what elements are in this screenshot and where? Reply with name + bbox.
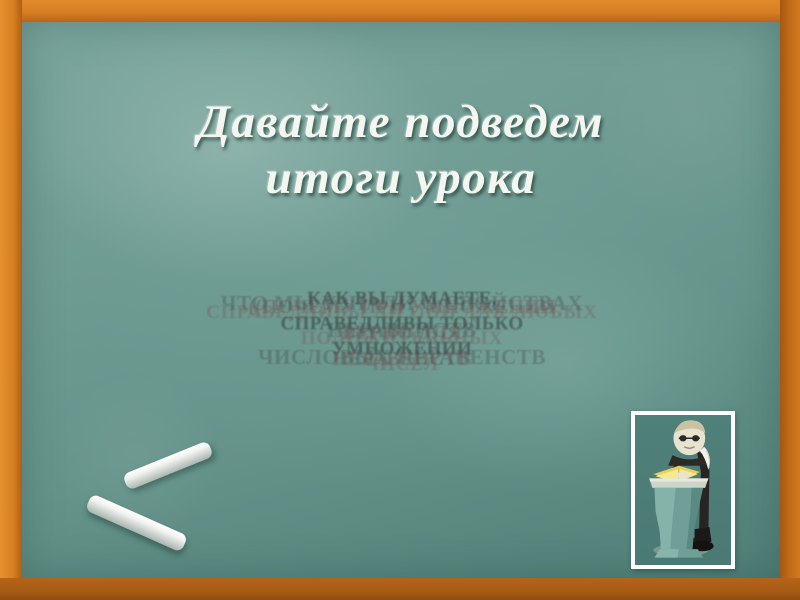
chalkboard: Давайте подведем итоги урока Как вы дума… bbox=[22, 22, 780, 578]
lecturer-image bbox=[635, 415, 731, 565]
chalk-stick-lower bbox=[85, 493, 188, 552]
presentation-slide: Давайте подведем итоги урока Как вы дума… bbox=[0, 0, 800, 600]
lecturer-image-card bbox=[631, 411, 735, 569]
transition-text-layer-4: Справедливы ли они для любых положительн… bbox=[44, 300, 760, 378]
lecturer-at-podium-icon bbox=[635, 415, 731, 565]
frame-border-top bbox=[0, 0, 800, 22]
slide-title: Давайте подведем итоги урока bbox=[22, 94, 780, 206]
frame-border-bottom bbox=[0, 578, 800, 600]
transition-text-block: Как вы думаете, справедливы только умнож… bbox=[44, 270, 760, 380]
frame-border-left bbox=[0, 0, 22, 600]
frame-border-right bbox=[780, 0, 800, 600]
chalk-stick-upper bbox=[122, 440, 214, 490]
